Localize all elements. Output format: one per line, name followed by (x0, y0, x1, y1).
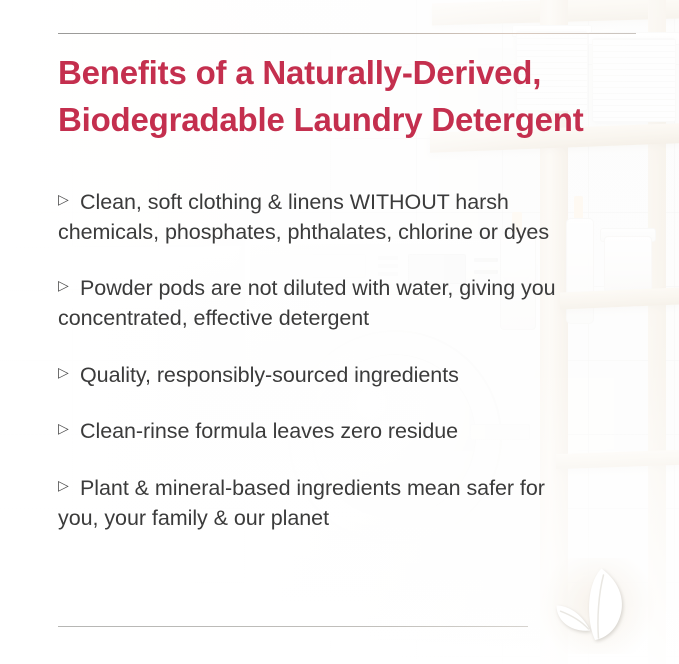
list-item: ▷ Clean-rinse formula leaves zero residu… (58, 417, 568, 447)
poster-canvas: Benefits of a Naturally-Derived, Biodegr… (0, 0, 679, 664)
list-item-text: Plant & mineral-based ingredients mean s… (58, 474, 568, 533)
list-item-text: Clean-rinse formula leaves zero residue (58, 417, 568, 447)
triangle-bullet-icon: ▷ (58, 362, 69, 384)
two-leaf-logo-icon (548, 566, 642, 644)
list-item: ▷ Powder pods are not diluted with water… (58, 274, 568, 333)
triangle-bullet-icon: ▷ (58, 475, 69, 497)
list-item-text: Clean, soft clothing & linens WITHOUT ha… (58, 188, 568, 247)
poster-content: Benefits of a Naturally-Derived, Biodegr… (0, 0, 679, 664)
page-title-line-1: Benefits of a Naturally-Derived, (58, 50, 658, 97)
triangle-bullet-icon: ▷ (58, 418, 69, 440)
list-item: ▷ Clean, soft clothing & linens WITHOUT … (58, 188, 568, 247)
triangle-bullet-icon: ▷ (58, 275, 69, 297)
list-item-text: Quality, responsibly-sourced ingredients (58, 361, 568, 391)
benefits-list: ▷ Clean, soft clothing & linens WITHOUT … (58, 188, 568, 533)
page-title-line-2: Biodegradable Laundry Detergent (58, 97, 658, 144)
triangle-bullet-icon: ▷ (58, 189, 69, 211)
page-title: Benefits of a Naturally-Derived, Biodegr… (58, 50, 658, 144)
list-item-text: Powder pods are not diluted with water, … (58, 274, 568, 333)
divider-bottom (58, 626, 528, 627)
list-item: ▷ Quality, responsibly-sourced ingredien… (58, 361, 568, 391)
list-item: ▷ Plant & mineral-based ingredients mean… (58, 474, 568, 533)
divider-top (58, 33, 636, 34)
leaf-large-shape (589, 569, 622, 641)
leaf-small-shape (557, 606, 591, 631)
